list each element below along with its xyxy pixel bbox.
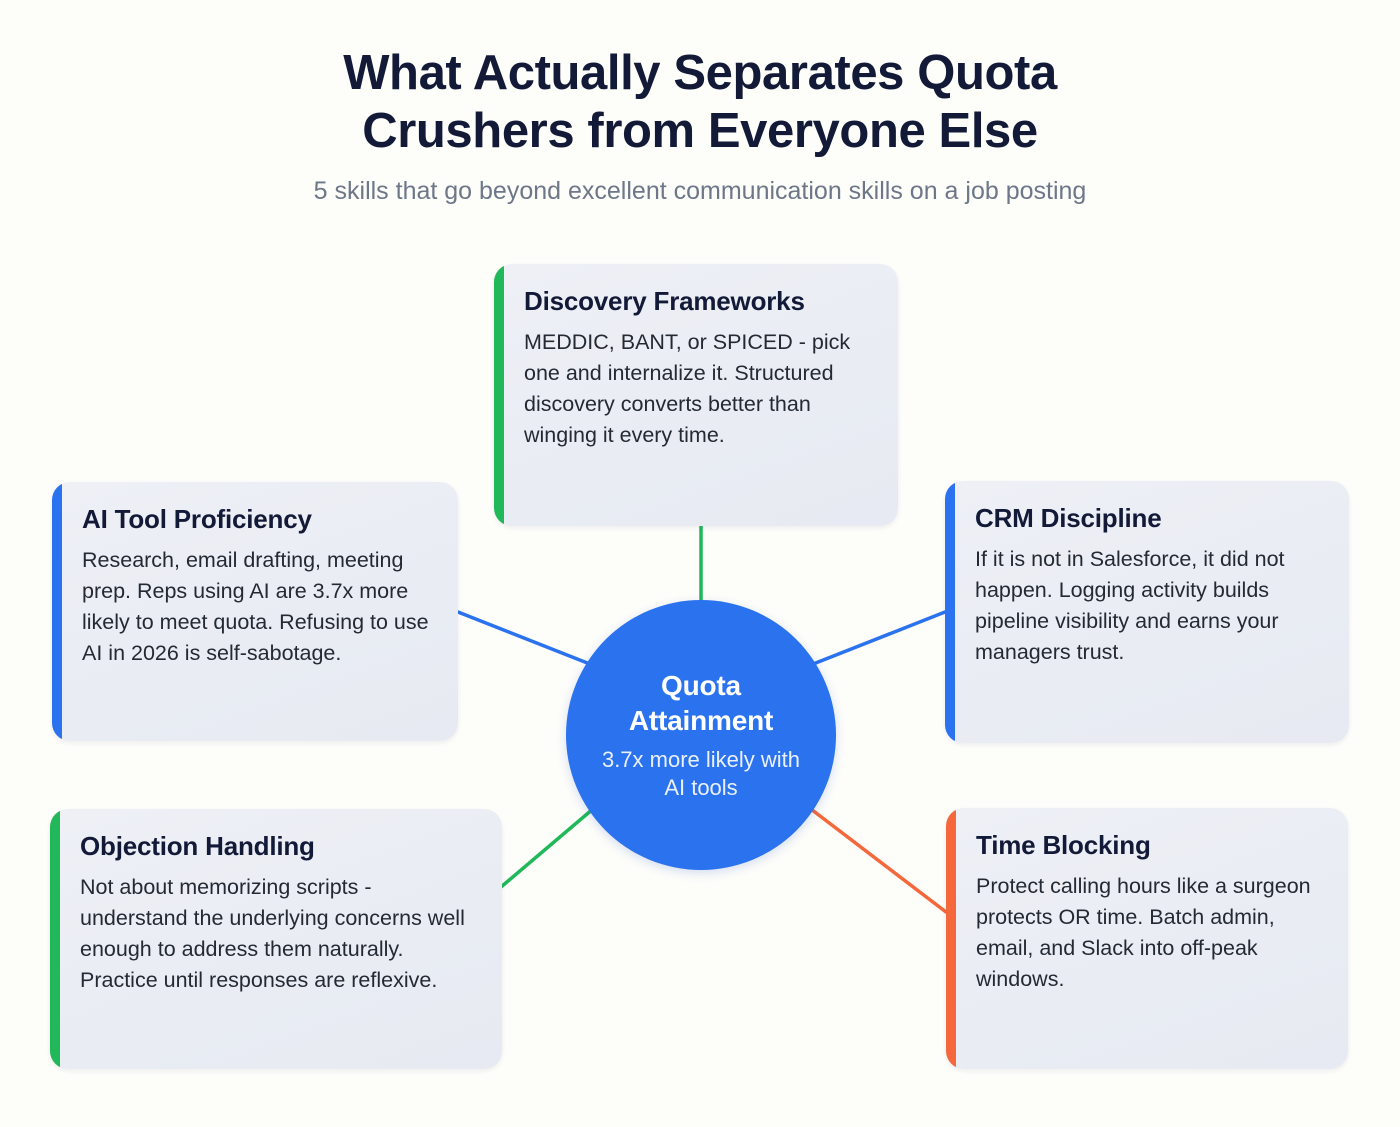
card-body: If it is not in Salesforce, it did not h… — [975, 544, 1323, 668]
card-body: Protect calling hours like a surgeon pro… — [976, 871, 1322, 995]
skill-card-ai-tool-proficiency[interactable]: AI Tool Proficiency Research, email draf… — [52, 482, 458, 741]
card-accent-bar — [52, 482, 62, 741]
connector-line-time — [803, 803, 946, 912]
hub-title: Quota Attainment — [601, 668, 801, 738]
card-accent-bar — [945, 481, 955, 743]
card-title: CRM Discipline — [975, 503, 1323, 533]
connector-line-crm — [803, 612, 945, 668]
skill-card-crm-discipline[interactable]: CRM Discipline If it is not in Salesforc… — [945, 481, 1349, 743]
card-accent-bar — [50, 809, 60, 1069]
card-title: AI Tool Proficiency — [82, 504, 432, 534]
card-title: Objection Handling — [80, 831, 476, 861]
infographic-canvas: What Actually Separates Quota Crushers f… — [0, 0, 1400, 1127]
card-title: Discovery Frameworks — [524, 286, 872, 316]
skill-card-discovery-frameworks[interactable]: Discovery Frameworks MEDDIC, BANT, or SP… — [494, 264, 898, 526]
card-accent-bar — [946, 808, 956, 1069]
connector-line-objection — [501, 803, 600, 887]
card-body: Research, email drafting, meeting prep. … — [82, 545, 432, 669]
card-accent-bar — [494, 264, 504, 526]
card-body: MEDDIC, BANT, or SPICED - pick one and i… — [524, 327, 872, 451]
card-body: Not about memorizing scripts - understan… — [80, 872, 476, 996]
connector-line-ai — [458, 612, 600, 668]
skill-card-objection-handling[interactable]: Objection Handling Not about memorizing … — [50, 809, 502, 1069]
skill-card-time-blocking[interactable]: Time Blocking Protect calling hours like… — [946, 808, 1348, 1069]
center-hub-quota-attainment[interactable]: Quota Attainment 3.7x more likely with A… — [566, 600, 836, 870]
hub-subtitle: 3.7x more likely with AI tools — [596, 746, 806, 802]
card-title: Time Blocking — [976, 830, 1322, 860]
